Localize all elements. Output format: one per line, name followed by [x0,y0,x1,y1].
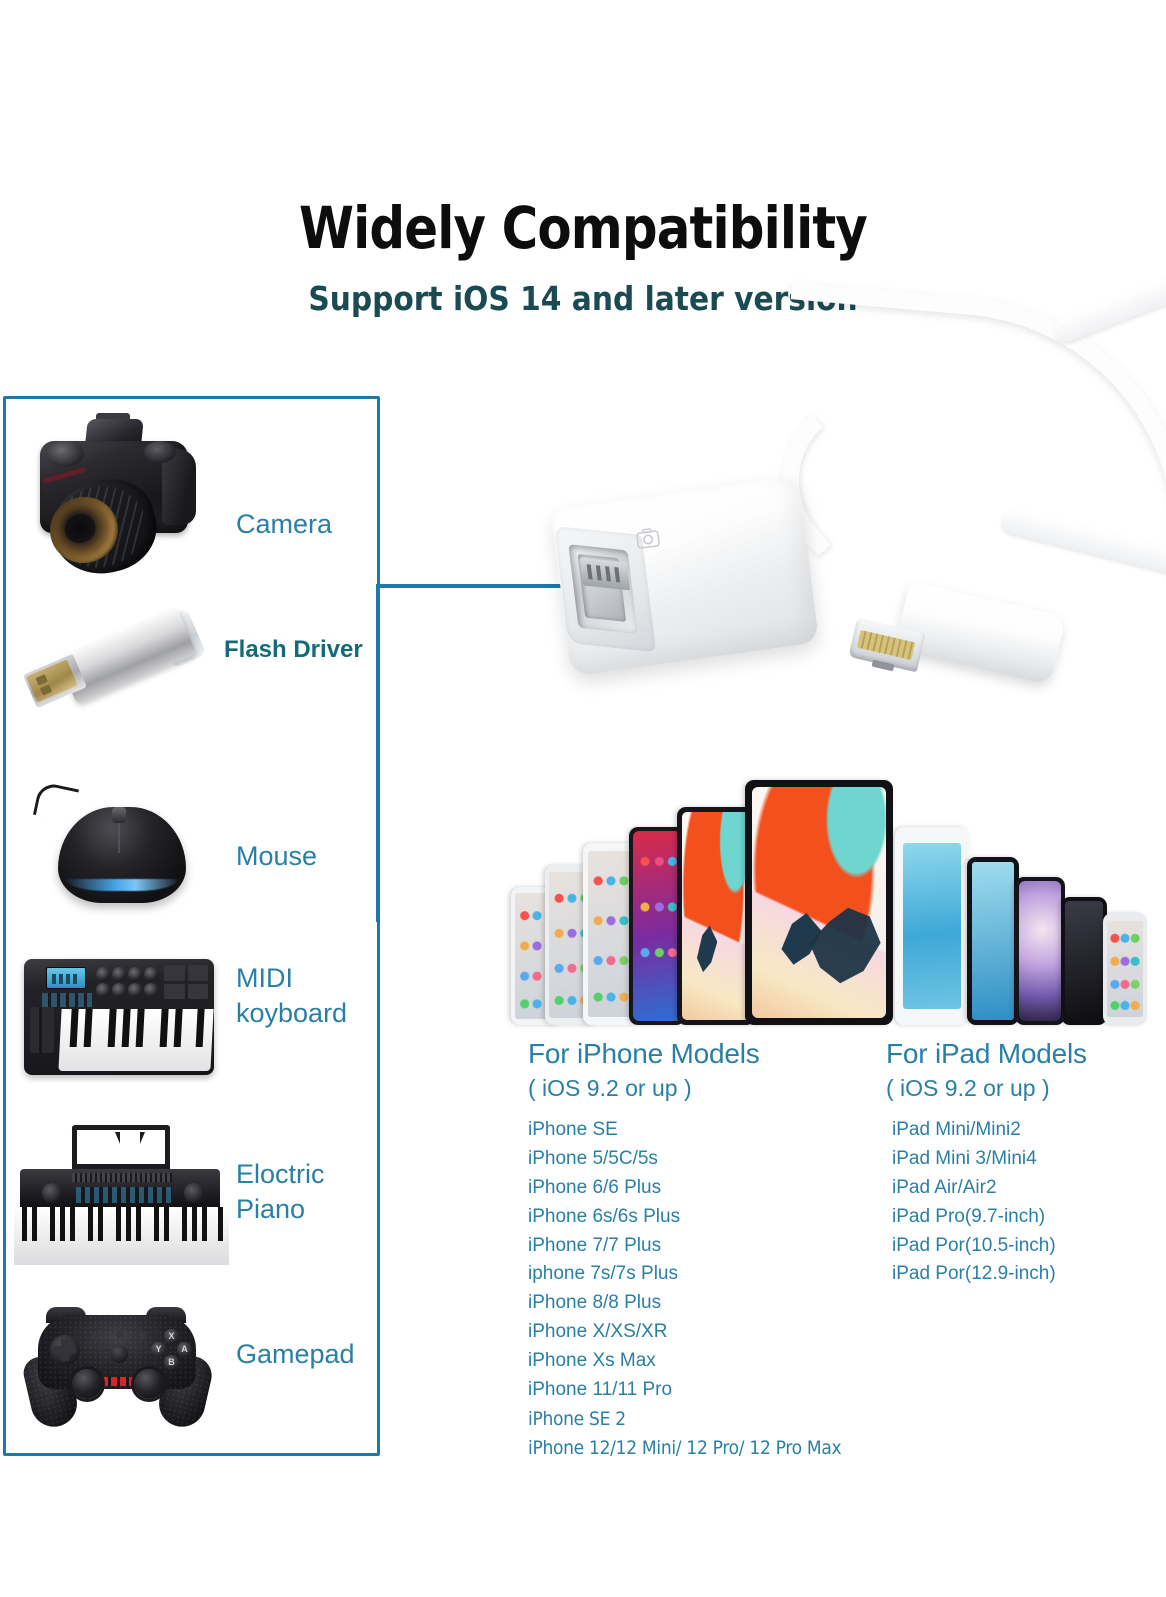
page-title: Widely Compatibility [82,194,1085,262]
peripheral-row-electric-piano: Eloctric Piano [6,1107,383,1283]
iphone-ios-note: ( iOS 9.2 or up ) [528,1075,841,1102]
peripheral-label-midi-keyboard: MIDI koyboard [236,961,347,1030]
dslr-camera-icon [14,403,222,579]
list-item: iPhone 7/7 Plus [528,1232,841,1261]
list-item: iPad Mini 3/Mini4 [892,1145,1087,1174]
device-iphone-xs-max [1015,877,1065,1025]
peripheral-row-mouse: Mouse [6,763,383,939]
device-iphone-silver-last [1103,913,1147,1025]
midi-keyboard-icon [14,923,222,1099]
list-item: iPhone 6s/6s Plus [528,1203,841,1232]
gamepad-icon: XYAB [14,1271,222,1447]
peripheral-label-electric-piano: Eloctric Piano [236,1157,325,1226]
list-item: iPhone Xs Max [528,1347,841,1376]
device-ipad-black [967,857,1019,1025]
device-iphone-black-small [1061,897,1107,1025]
list-item: iPad Por(12.9-inch) [892,1260,1087,1289]
ipad-compatibility-column: For iPad Models ( iOS 9.2 or up ) iPad M… [886,1038,1087,1289]
device-ipad-white [895,827,969,1025]
ipad-models-heading: For iPad Models [886,1038,1087,1070]
device-ipad-pro-small [677,807,755,1025]
peripheral-label-mouse: Mouse [236,839,317,874]
usb-port-tongue [580,558,630,591]
list-item: iPad Air/Air2 [892,1174,1087,1203]
device-ipad-pro-large [745,780,893,1025]
peripheral-label-flash-drive: Flash Driver [224,635,363,666]
iphone-models-list: iPhone SE iPhone 5/5C/5s iPhone 6/6 Plus… [528,1116,841,1463]
product-compatibility-infographic: Widely Compatibility Support iOS 14 and … [0,0,1166,1597]
peripheral-row-flash-drive: Flash Driver [6,585,383,761]
camera-icon [634,525,663,554]
iphone-ipad-device-lineup [505,780,1160,1025]
list-item: iPhone 5/5C/5s [528,1145,841,1174]
computer-mouse-icon [14,763,222,939]
peripheral-row-midi-keyboard: MIDI koyboard [6,923,383,1099]
list-item: iPad Por(10.5-inch) [892,1232,1087,1261]
list-item: iPhone 8/8 Plus [528,1289,841,1318]
peripheral-label-gamepad: Gamepad [236,1337,355,1372]
list-item: iPhone 11/11 Pro [528,1376,841,1405]
connector-line-vertical [376,584,380,922]
list-item: iPhone SE 2 [528,1405,841,1434]
list-item: iPad Mini/Mini2 [892,1116,1087,1145]
list-item: iPad Pro(9.7-inch) [892,1203,1087,1232]
peripheral-row-camera: Camera [6,403,383,579]
list-item: iPhone 12/12 Mini/ 12 Pro/ 12 Pro Max [528,1434,841,1463]
ipad-ios-note: ( iOS 9.2 or up ) [886,1075,1087,1102]
peripheral-row-gamepad: XYAB Gamepad [6,1271,383,1447]
iphone-compatibility-column: For iPhone Models ( iOS 9.2 or up ) iPho… [528,1038,841,1463]
electric-piano-icon [14,1107,222,1283]
peripheral-label-camera: Camera [236,507,332,542]
iphone-models-heading: For iPhone Models [528,1038,841,1070]
list-item: iphone 7s/7s Plus [528,1260,841,1289]
usb-flash-drive-icon [14,585,222,761]
ipad-models-list: iPad Mini/Mini2 iPad Mini 3/Mini4 iPad A… [886,1116,1087,1289]
supported-peripherals-box: Camera Flash Driver Mouse [3,396,380,1456]
list-item: iPhone X/XS/XR [528,1318,841,1347]
list-item: iPhone 6/6 Plus [528,1174,841,1203]
list-item: iPhone SE [528,1116,841,1145]
